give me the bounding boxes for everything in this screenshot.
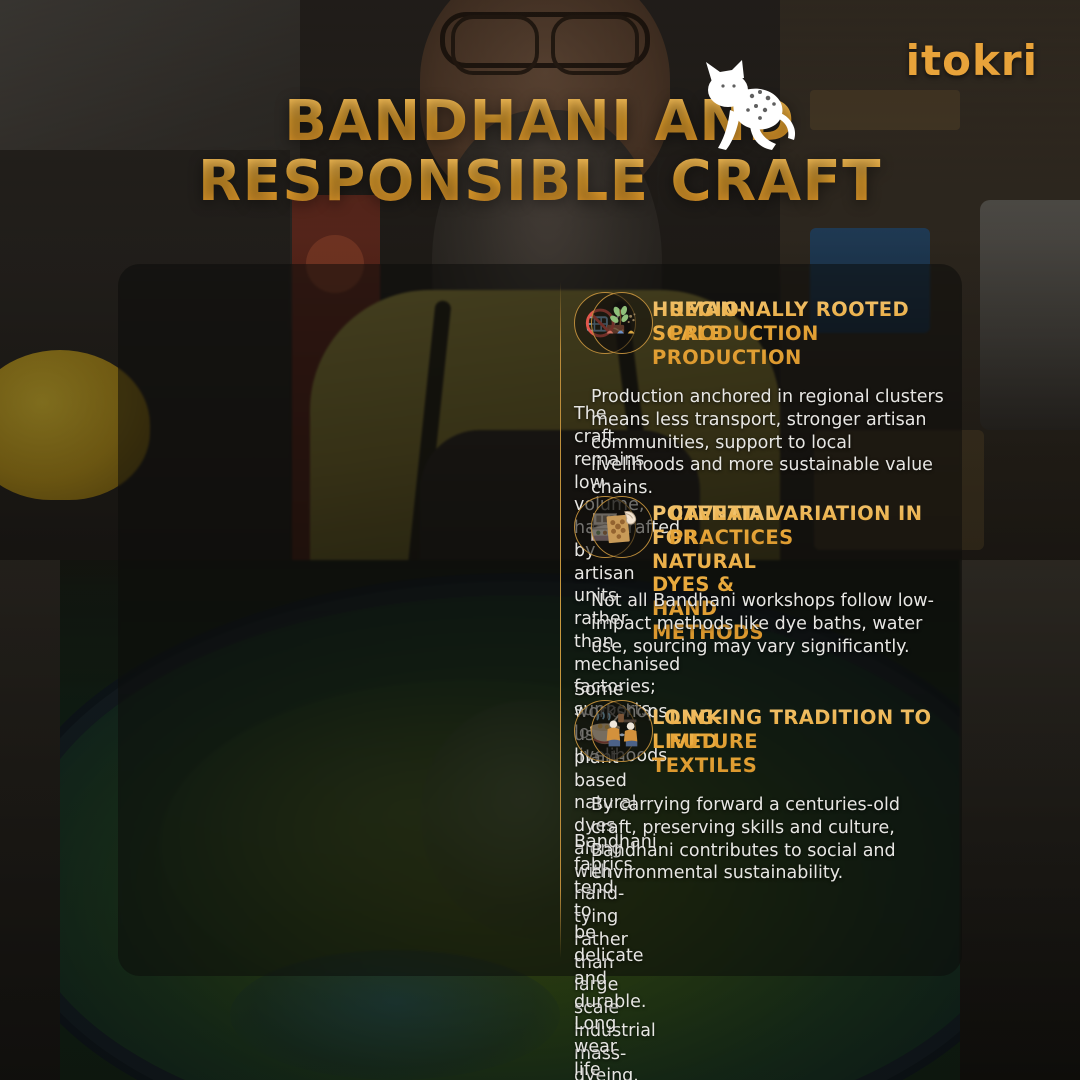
cat-illustration-icon xyxy=(690,52,810,162)
feature-body: Production anchored in regional clusters… xyxy=(591,386,944,500)
title-line-2: RESPONSIBLE CRAFT xyxy=(120,152,960,212)
feature-body: Not all Bandhani workshops follow low-im… xyxy=(591,590,944,658)
feature-header: LINKING TRADITION TO FUTURE xyxy=(591,700,944,762)
feature-title: REGIONALLY ROOTED PRODUCTION xyxy=(669,292,944,346)
content-panel: HUMAN-SCALE PRODUCTION The craft remains… xyxy=(118,264,962,976)
feature-title: CAVEAT: VARIATION IN PRACTICES xyxy=(669,496,944,550)
feature-header: CAVEAT: VARIATION IN PRACTICES xyxy=(591,496,944,558)
feature-item-regionally-rooted-production: REGIONALLY ROOTED PRODUCTION Production … xyxy=(547,292,962,496)
column-divider xyxy=(118,292,546,910)
feature-item-caveat-variation-in-practices: CAVEAT: VARIATION IN PRACTICES Not all B… xyxy=(547,496,962,700)
leaves-and-dye-powders-icon xyxy=(591,292,653,354)
itokri-logo[interactable]: itokri xyxy=(906,40,1038,82)
two-artisans-working-icon xyxy=(591,700,653,762)
feature-item-linking-tradition-to-future: LINKING TRADITION TO FUTURE By carrying … xyxy=(547,700,962,910)
page-title: BANDHANI AND RESPONSIBLE CRAFT xyxy=(0,92,1080,212)
feature-title: LINKING TRADITION TO FUTURE xyxy=(669,700,944,754)
infographic-canvas: itokri BANDHANI AND RESPONSIBLE CRAFT xyxy=(0,0,1080,1080)
feature-header: REGIONALLY ROOTED PRODUCTION xyxy=(591,292,944,354)
hand-holding-fabric-swatch-icon xyxy=(591,496,653,558)
title-line-1: BANDHANI AND xyxy=(120,92,960,152)
feature-body: By carrying forward a centuries-old craf… xyxy=(591,794,944,885)
